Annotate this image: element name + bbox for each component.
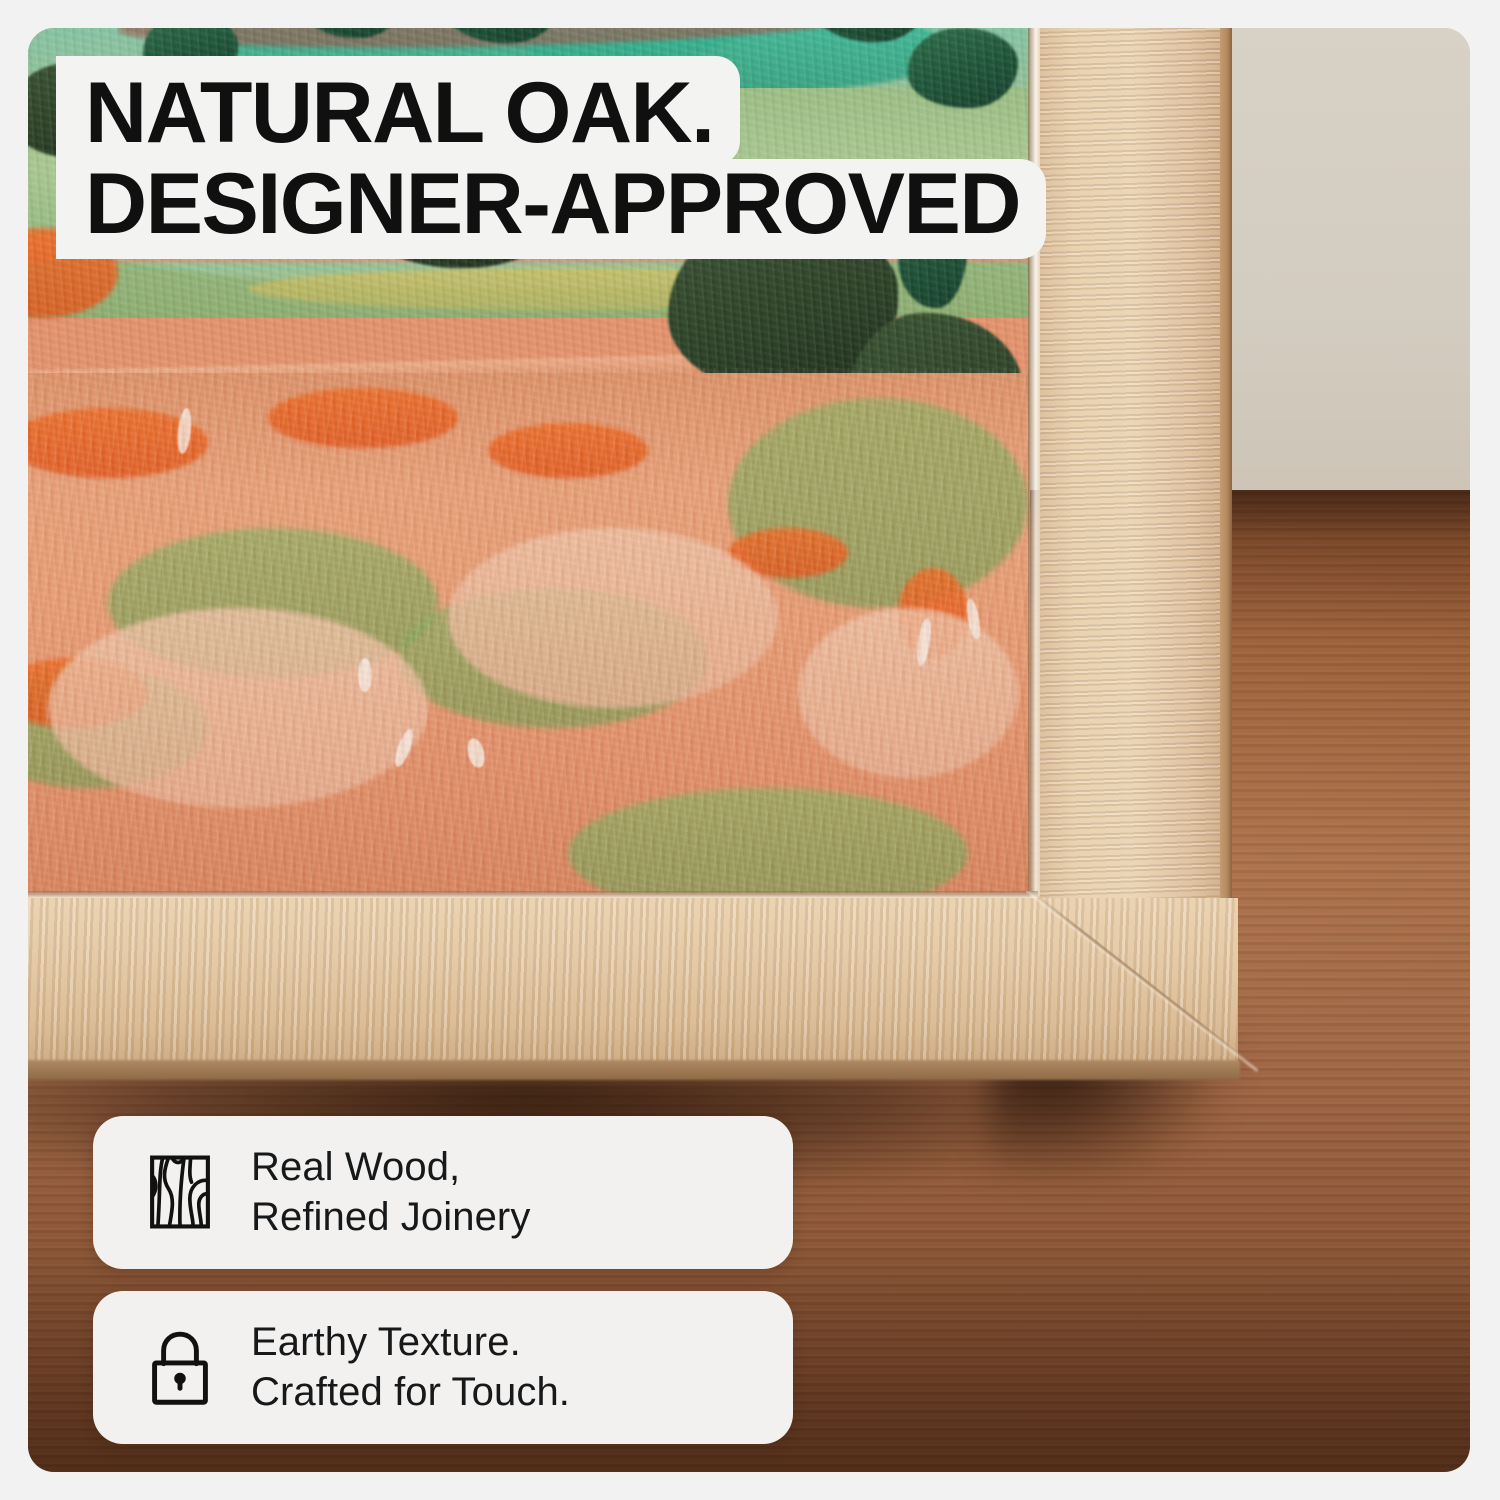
feature-badge-real-wood: Real Wood, Refined Joinery <box>93 1116 793 1269</box>
product-marketing-image: NATURAL OAK. DESIGNER-APPROVED <box>0 0 1500 1500</box>
product-photo: NATURAL OAK. DESIGNER-APPROVED <box>28 28 1470 1472</box>
headline: NATURAL OAK. DESIGNER-APPROVED <box>56 56 1116 259</box>
frame-mitre-joint-highlight <box>1026 891 1276 1091</box>
feature-badge-list: Real Wood, Refined Joinery Earthy Textur… <box>93 1116 793 1444</box>
headline-line-1-row: NATURAL OAK. <box>56 56 1116 165</box>
headline-line-2-row: DESIGNER-APPROVED <box>56 165 1116 260</box>
feature-badge-text: Real Wood, Refined Joinery <box>251 1142 530 1243</box>
feature-line-1: Real Wood, <box>251 1142 530 1192</box>
feature-line-2: Crafted for Touch. <box>251 1367 570 1417</box>
art-brushstroke-texture-foreground <box>28 368 1030 894</box>
wood-grain-icon <box>139 1151 221 1233</box>
feature-badge-text: Earthy Texture. Crafted for Touch. <box>251 1317 570 1418</box>
feature-line-2: Refined Joinery <box>251 1192 530 1242</box>
headline-line-2: DESIGNER-APPROVED <box>85 163 1020 246</box>
feature-badge-earthy-texture: Earthy Texture. Crafted for Touch. <box>93 1291 793 1444</box>
headline-plate-2: DESIGNER-APPROVED <box>56 159 1046 260</box>
headline-plate-1: NATURAL OAK. <box>56 56 740 165</box>
feature-line-1: Earthy Texture. <box>251 1317 570 1367</box>
headline-line-1: NATURAL OAK. <box>85 72 714 155</box>
padlock-icon <box>139 1326 221 1408</box>
